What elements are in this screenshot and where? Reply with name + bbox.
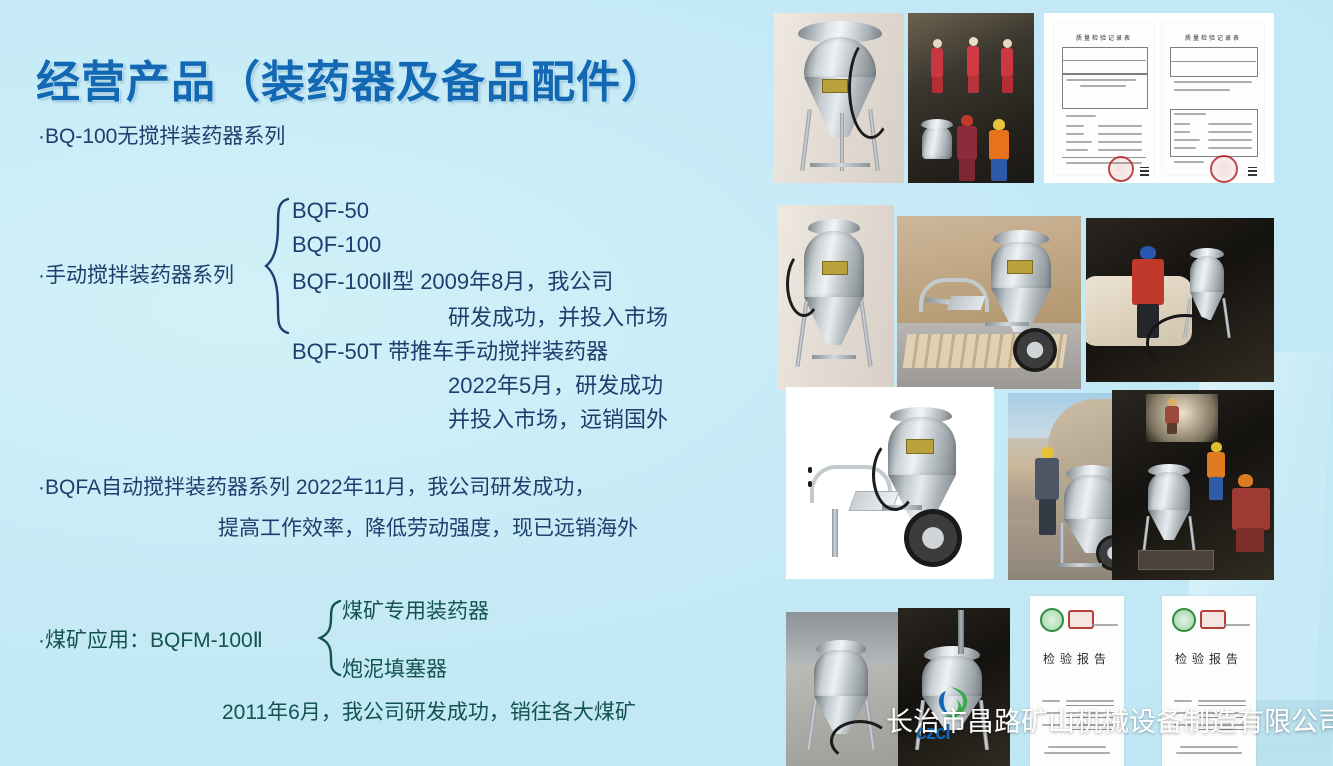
tunnel-charging-photo <box>1112 390 1274 580</box>
report-title-1: 检验报告 <box>1030 650 1124 667</box>
cma-badge-icon <box>1068 610 1094 629</box>
report-title-2: 检验报告 <box>1162 650 1256 667</box>
brace-manual-series <box>262 196 292 336</box>
workshop-vessel-photo <box>786 612 898 766</box>
safety-cert-badge-icon <box>1040 608 1064 632</box>
bqfa-line-2: 提高工作效率，降低劳动强度，现已远销海外 <box>218 512 638 542</box>
inspection-forms-pair: 质量检验记录表 质量检验记录表 <box>1044 13 1274 183</box>
bqf-50t-cart-photo <box>897 216 1081 389</box>
bullet-manual-series-label: ·手动搅拌装药器系列 <box>38 259 234 289</box>
charging-device-studio-photo <box>774 13 904 183</box>
inspection-report-1: 检验报告 <box>1030 596 1124 766</box>
cma-badge-icon <box>1200 610 1226 629</box>
brace-coal-application <box>316 598 344 678</box>
bullet-bq100-series: ·BQ-100无搅拌装药器系列 <box>38 120 285 150</box>
coal-application-label: ·煤矿应用：BQFM-100Ⅱ <box>38 624 263 654</box>
manual-item-7: 并投入市场，远销国外 <box>448 402 668 434</box>
coal-item-1: 煤矿专用装药器 <box>342 595 489 625</box>
company-watermark: 长治市昌路矿山机械设备制造有限公司 <box>886 700 1333 739</box>
form-title-left: 质量检验记录表 <box>1054 33 1154 42</box>
manual-item-2: BQF-100 <box>292 232 381 258</box>
manual-item-4: 研发成功，并投入市场 <box>448 300 668 332</box>
inspection-report-2: 检验报告 <box>1162 596 1256 766</box>
coal-line-3: 2011年6月，我公司研发成功，销往各大煤矿 <box>222 696 636 726</box>
form-title-right: 质量检验记录表 <box>1162 33 1264 42</box>
slide-canvas: 经营产品（装药器及备品配件） ·BQ-100无搅拌装药器系列 ·手动搅拌装药器系… <box>0 0 1333 766</box>
manual-item-6: 2022年5月，研发成功 <box>448 368 663 400</box>
mine-site-workers-photo <box>908 13 1034 183</box>
underground-operation-photo <box>1086 218 1274 382</box>
manual-item-3: BQF-100Ⅱ型 2009年8月，我公司 <box>292 264 613 296</box>
manual-item-1: BQF-50 <box>292 198 369 224</box>
bqfa-cart-render <box>786 387 994 579</box>
bqfa-line-1: ·BQFA自动搅拌装药器系列 2022年11月，我公司研发成功， <box>38 471 595 501</box>
page-title: 经营产品（装药器及备品配件） <box>36 46 666 110</box>
manual-item-5: BQF-50T 带推车手动搅拌装药器 <box>292 334 608 366</box>
coal-item-2: 炮泥填塞器 <box>342 653 447 683</box>
bqf-vessel-photo <box>778 205 894 390</box>
safety-cert-badge-icon <box>1172 608 1196 632</box>
